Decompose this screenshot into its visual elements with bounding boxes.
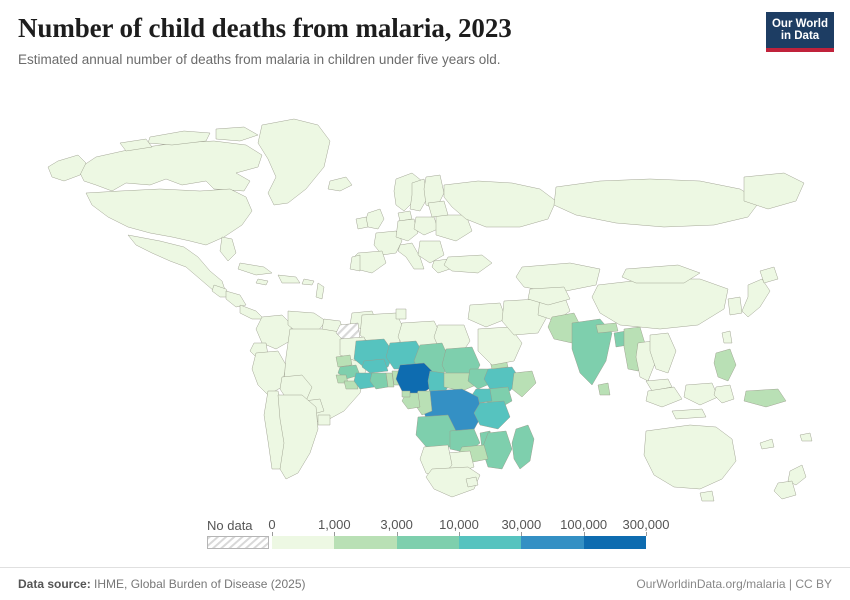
country-madagascar[interactable]: [512, 425, 534, 469]
legend-tick-label-4: 30,000: [501, 517, 541, 532]
country-greenland[interactable]: [258, 119, 330, 205]
logo-line-1: Our World: [772, 18, 828, 31]
legend-tick-label-6: 300,000: [623, 517, 670, 532]
legend-tick-label-1: 1,000: [318, 517, 351, 532]
country-papua-new-guinea[interactable]: [744, 389, 786, 407]
legend-tick-label-3: 10,000: [439, 517, 479, 532]
country-senegal[interactable]: [336, 355, 352, 367]
country-tasmania[interactable]: [700, 491, 714, 501]
country-germany[interactable]: [396, 219, 418, 241]
country-australia[interactable]: [644, 425, 736, 489]
country-uruguay[interactable]: [318, 415, 330, 425]
country-new-zealand-south[interactable]: [774, 481, 796, 499]
country-canada-arctic-2[interactable]: [216, 127, 258, 141]
country-indonesia-borneo[interactable]: [684, 383, 718, 405]
country-japan[interactable]: [742, 279, 770, 317]
country-tanzania[interactable]: [474, 401, 510, 429]
map-legend[interactable]: No data 01,0003,00010,00030,000100,00030…: [0, 505, 850, 560]
country-argentina[interactable]: [278, 395, 318, 479]
country-equatorial-guinea[interactable]: [402, 391, 410, 397]
country-russia-east[interactable]: [554, 179, 760, 227]
country-puerto-rico[interactable]: [302, 279, 314, 285]
country-us-florida[interactable]: [220, 237, 236, 261]
chart-header: Number of child deaths from malaria, 202…: [18, 12, 832, 69]
data-source-label: Data source:: [18, 577, 91, 591]
country-turkey[interactable]: [444, 255, 492, 273]
legend-tick-mark-5: [584, 532, 585, 536]
country-united-kingdom[interactable]: [366, 209, 384, 229]
country-ireland[interactable]: [356, 217, 368, 229]
legend-tick-mark-2: [397, 532, 398, 536]
country-mexico[interactable]: [128, 235, 226, 293]
country-lesser-antilles[interactable]: [316, 283, 324, 299]
owid-logo[interactable]: Our World in Data: [766, 12, 834, 52]
world-map[interactable]: [0, 85, 850, 505]
country-china[interactable]: [592, 279, 728, 329]
chart-subtitle: Estimated annual number of deaths from m…: [18, 51, 832, 69]
country-indonesia-java[interactable]: [672, 409, 706, 419]
country-mozambique[interactable]: [482, 431, 512, 469]
country-new-caledonia[interactable]: [760, 439, 774, 449]
country-jamaica[interactable]: [256, 279, 268, 285]
owid-chart: Number of child deaths from malaria, 202…: [0, 0, 850, 600]
country-nepal-bhutan[interactable]: [596, 323, 618, 333]
country-canada[interactable]: [78, 141, 262, 191]
country-philippines[interactable]: [714, 349, 736, 381]
legend-tick-label-0: 0: [268, 517, 275, 532]
data-source: Data source: IHME, Global Burden of Dise…: [18, 577, 305, 591]
country-fiji[interactable]: [800, 433, 812, 441]
country-baltics[interactable]: [428, 201, 448, 217]
country-honduras-nicaragua[interactable]: [226, 291, 246, 307]
legend-ticks: 01,0003,00010,00030,000100,000300,000: [0, 505, 850, 560]
legend-tick-label-2: 3,000: [380, 517, 413, 532]
country-laos-cambodia-vietnam[interactable]: [650, 333, 676, 373]
legend-tick-mark-6: [646, 532, 647, 536]
country-sri-lanka[interactable]: [598, 383, 610, 395]
legend-tick-mark-4: [521, 532, 522, 536]
legend-tick-mark-3: [459, 532, 460, 536]
country-burkina-faso[interactable]: [362, 359, 388, 373]
country-korea[interactable]: [728, 297, 742, 315]
country-russia-far-east[interactable]: [744, 173, 804, 209]
country-iraq-syria[interactable]: [468, 303, 506, 327]
country-indonesia-sulawesi[interactable]: [714, 385, 734, 403]
country-somalia[interactable]: [512, 371, 536, 397]
country-lesotho[interactable]: [466, 477, 478, 487]
logo-line-2: in Data: [781, 30, 819, 43]
data-source-text: IHME, Global Burden of Disease (2025): [94, 577, 305, 591]
page-title: Number of child deaths from malaria, 202…: [18, 12, 832, 44]
country-costa-rica-panama[interactable]: [240, 305, 264, 319]
country-portugal[interactable]: [350, 255, 360, 271]
country-iceland[interactable]: [328, 177, 352, 191]
legend-tick-label-5: 100,000: [560, 517, 607, 532]
license-link[interactable]: OurWorldinData.org/malaria | CC BY: [636, 577, 832, 591]
country-alaska[interactable]: [48, 155, 86, 181]
legend-tick-mark-1: [334, 532, 335, 536]
chart-footer: Data source: IHME, Global Burden of Dise…: [0, 567, 850, 600]
country-taiwan[interactable]: [722, 331, 732, 343]
country-balkans[interactable]: [418, 241, 444, 263]
country-united-states[interactable]: [86, 189, 252, 245]
legend-tick-mark-0: [272, 532, 273, 536]
country-tunisia[interactable]: [396, 309, 406, 319]
country-mongolia[interactable]: [622, 265, 700, 283]
country-cuba[interactable]: [238, 263, 272, 275]
country-hispaniola[interactable]: [278, 275, 300, 283]
